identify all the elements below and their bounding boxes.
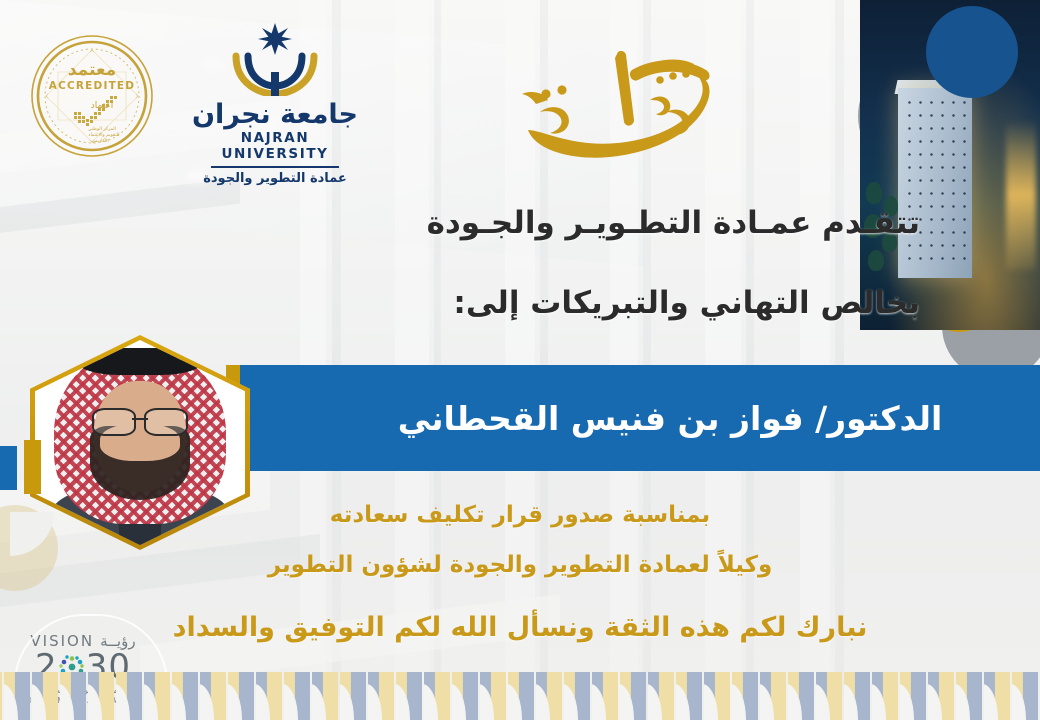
university-mark-icon xyxy=(190,22,360,96)
chevron-tile xyxy=(536,672,562,720)
chevron-tile xyxy=(928,672,954,720)
logo-divider xyxy=(211,166,339,168)
chevron-tile xyxy=(452,672,478,720)
chevron-tile xyxy=(144,672,170,720)
headline-line-1: تتقـدم عمـادة التطـويـر والجـودة xyxy=(130,205,920,241)
chevron-tile xyxy=(340,672,366,720)
chevron-tile xyxy=(256,672,282,720)
chevron-tile xyxy=(312,672,338,720)
chevron-tile xyxy=(984,672,1010,720)
chevron-tile xyxy=(872,672,898,720)
chevron-tile xyxy=(116,672,142,720)
chevron-tile xyxy=(0,672,2,720)
chevron-tile xyxy=(788,672,814,720)
honoree-name: الدكتور/ فواز بن فنيس القحطاني xyxy=(338,399,943,438)
chevron-tile xyxy=(760,672,786,720)
right-decorative-shape xyxy=(860,0,1040,380)
chevron-tile xyxy=(1012,672,1038,720)
chevron-tile xyxy=(4,672,30,720)
honoree-name-banner: الدكتور/ فواز بن فنيس القحطاني xyxy=(240,365,1040,471)
chevron-tile xyxy=(620,672,646,720)
chevron-tile xyxy=(592,672,618,720)
chevron-tile xyxy=(228,672,254,720)
chevron-tile xyxy=(648,672,674,720)
chevron-tile xyxy=(424,672,450,720)
congratulations-calligraphy xyxy=(500,34,760,174)
najran-university-logo: جامعة نجران NAJRAN UNIVERSITY عمادة التط… xyxy=(190,22,360,172)
chevron-tile xyxy=(480,672,506,720)
congratulation-poster: معتمد ACCREDITED اعتماد المركز الوطني لل… xyxy=(0,0,1040,720)
chevron-tile xyxy=(956,672,982,720)
chevron-tile xyxy=(732,672,758,720)
chevron-tile xyxy=(676,672,702,720)
chevron-tile xyxy=(60,672,86,720)
svg-text:الأكاديمي: الأكاديمي xyxy=(91,137,108,144)
chevron-tile xyxy=(704,672,730,720)
svg-text:للتقويم والاعتماد: للتقويم والاعتماد xyxy=(88,133,119,138)
university-name-arabic: جامعة نجران xyxy=(190,101,360,128)
svg-text:ACCREDITED: ACCREDITED xyxy=(49,80,135,92)
left-gold-bar xyxy=(24,440,41,494)
chevron-tile xyxy=(508,672,534,720)
body-line-2: وكيلاً لعمادة التطوير والجودة لشؤون التط… xyxy=(120,552,920,578)
chevron-tile xyxy=(172,672,198,720)
body-line-3: نبارك لكم هذه الثقة ونسأل الله لكم التوف… xyxy=(120,612,920,643)
svg-text:معتمد: معتمد xyxy=(68,60,116,80)
university-name-english: NAJRAN UNIVERSITY xyxy=(190,130,360,162)
headline-line-2: بخالص التهاني والتبريكات إلى: xyxy=(130,285,920,321)
chevron-tile xyxy=(284,672,310,720)
chevron-tile xyxy=(88,672,114,720)
chevron-tile xyxy=(900,672,926,720)
body-line-1: بمناسبة صدور قرار تكليف سعادته xyxy=(120,502,920,528)
accreditation-seal-icon: معتمد ACCREDITED اعتماد المركز الوطني لل… xyxy=(28,32,156,160)
svg-text:المركز الوطني: المركز الوطني xyxy=(88,126,116,132)
left-blue-bar xyxy=(0,446,17,490)
chevron-tile xyxy=(816,672,842,720)
bottom-chevron-pattern xyxy=(0,672,1040,720)
chevron-tile xyxy=(564,672,590,720)
chevron-tile xyxy=(844,672,870,720)
chevron-tile xyxy=(368,672,394,720)
chevron-tile xyxy=(32,672,58,720)
deanship-name: عمادة التطوير والجودة xyxy=(190,171,360,186)
chevron-tile xyxy=(396,672,422,720)
chevron-tile xyxy=(200,672,226,720)
